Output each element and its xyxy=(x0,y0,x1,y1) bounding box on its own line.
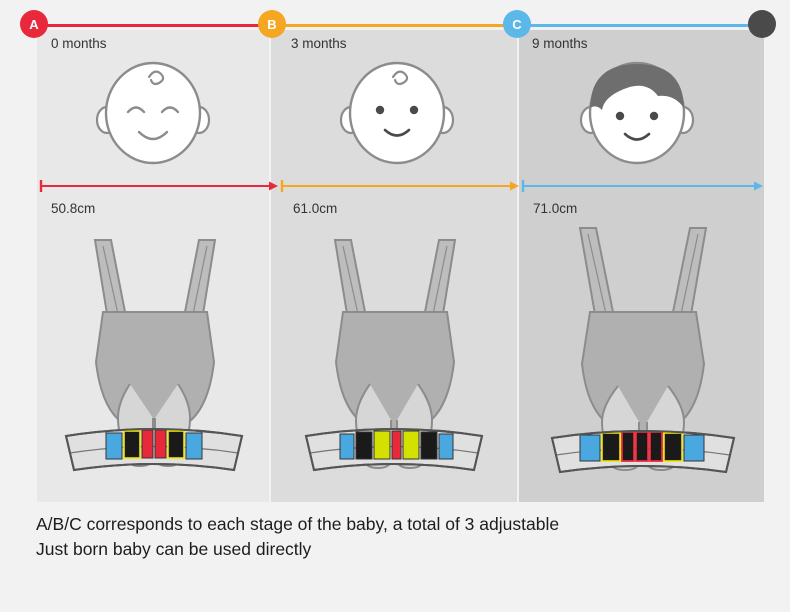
stage-rail-c xyxy=(517,24,762,27)
measure-arrow-c xyxy=(519,178,765,194)
measure-arrow-a xyxy=(37,178,280,194)
infographic-root: A B C 0 months 3 months 9 months xyxy=(0,0,790,612)
caption-block: A/B/C corresponds to each stage of the b… xyxy=(36,512,766,562)
stage-node-c-label: C xyxy=(512,17,521,32)
baby-head-stage-c xyxy=(572,58,702,173)
carrier-figure-stage-b xyxy=(288,222,500,492)
size-label-c: 71.0cm xyxy=(533,201,577,216)
stage-node-b-label: B xyxy=(267,17,276,32)
stage-node-a-label: A xyxy=(29,17,38,32)
carrier-figure-stage-c xyxy=(532,222,754,492)
stage-rail-b xyxy=(272,24,517,27)
carrier-figure-stage-a xyxy=(48,222,260,492)
age-label-c: 9 months xyxy=(532,36,588,51)
stage-rail-a xyxy=(37,24,272,27)
caption-line-2: Just born baby can be used directly xyxy=(36,537,766,562)
baby-head-stage-a xyxy=(88,58,218,173)
size-label-b: 61.0cm xyxy=(293,201,337,216)
measure-arrow-b xyxy=(278,178,521,194)
stage-node-end xyxy=(748,10,776,38)
age-label-a: 0 months xyxy=(51,36,107,51)
size-label-a: 50.8cm xyxy=(51,201,95,216)
stage-node-c: C xyxy=(503,10,531,38)
stage-node-b: B xyxy=(258,10,286,38)
age-label-b: 3 months xyxy=(291,36,347,51)
stage-node-a: A xyxy=(20,10,48,38)
baby-head-stage-b xyxy=(332,58,462,173)
caption-line-1: A/B/C corresponds to each stage of the b… xyxy=(36,512,766,537)
